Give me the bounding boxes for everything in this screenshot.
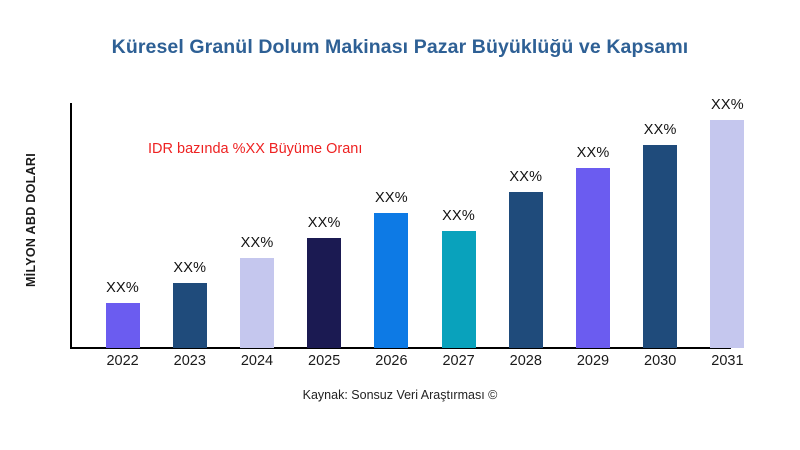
bar-2026[interactable] xyxy=(374,213,408,348)
bar-value-label: XX% xyxy=(711,97,744,113)
bar-value-label: XX% xyxy=(644,122,677,138)
bar-2029[interactable] xyxy=(576,168,610,348)
x-tick-label-2026: 2026 xyxy=(358,353,425,369)
bar-chart: Küresel Granül Dolum Makinası Pazar Büyü… xyxy=(0,0,800,450)
x-tick-label-2031: 2031 xyxy=(694,353,761,369)
bar-2022[interactable] xyxy=(106,303,140,348)
bar-value-label: XX% xyxy=(442,208,475,224)
x-tick-label-2025: 2025 xyxy=(291,353,358,369)
bar-group: XX% xyxy=(307,215,341,348)
bar-group: XX% xyxy=(710,97,744,348)
x-tick-label-2023: 2023 xyxy=(156,353,223,369)
bar-group: XX% xyxy=(643,122,677,348)
bar-2028[interactable] xyxy=(509,192,543,348)
bar-group: XX% xyxy=(106,280,140,348)
y-axis-title: MİLYON ABD DOLARI xyxy=(24,90,38,350)
x-tick-label-2030: 2030 xyxy=(627,353,694,369)
source-note: Kaynak: Sonsuz Veri Araştırması © xyxy=(0,388,800,402)
x-tick-label-2024: 2024 xyxy=(223,353,290,369)
x-tick-label-2022: 2022 xyxy=(89,353,156,369)
bar-value-label: XX% xyxy=(106,280,139,296)
bar-2027[interactable] xyxy=(442,231,476,348)
chart-title: Küresel Granül Dolum Makinası Pazar Büyü… xyxy=(0,36,800,59)
bar-value-label: XX% xyxy=(509,169,542,185)
bar-2031[interactable] xyxy=(710,120,744,348)
bar-group: XX% xyxy=(576,145,610,348)
bar-value-label: XX% xyxy=(375,190,408,206)
bar-2023[interactable] xyxy=(173,283,207,348)
bar-group: XX% xyxy=(240,235,274,348)
bar-group: XX% xyxy=(442,208,476,348)
bar-value-label: XX% xyxy=(577,145,610,161)
bar-value-label: XX% xyxy=(241,235,274,251)
x-tick-label-2029: 2029 xyxy=(559,353,626,369)
x-tick-label-2028: 2028 xyxy=(492,353,559,369)
bar-value-label: XX% xyxy=(173,260,206,276)
bar-2025[interactable] xyxy=(307,238,341,348)
bar-group: XX% xyxy=(509,169,543,348)
x-tick-label-2027: 2027 xyxy=(425,353,492,369)
bar-group: XX% xyxy=(374,190,408,348)
bar-2024[interactable] xyxy=(240,258,274,348)
plot-area: XX%XX%XX%XX%XX%XX%XX%XX%XX%XX% xyxy=(70,103,731,348)
bar-group: XX% xyxy=(173,260,207,348)
growth-rate-annotation: IDR bazında %XX Büyüme Oranı xyxy=(148,141,362,157)
bar-value-label: XX% xyxy=(308,215,341,231)
bar-2030[interactable] xyxy=(643,145,677,348)
